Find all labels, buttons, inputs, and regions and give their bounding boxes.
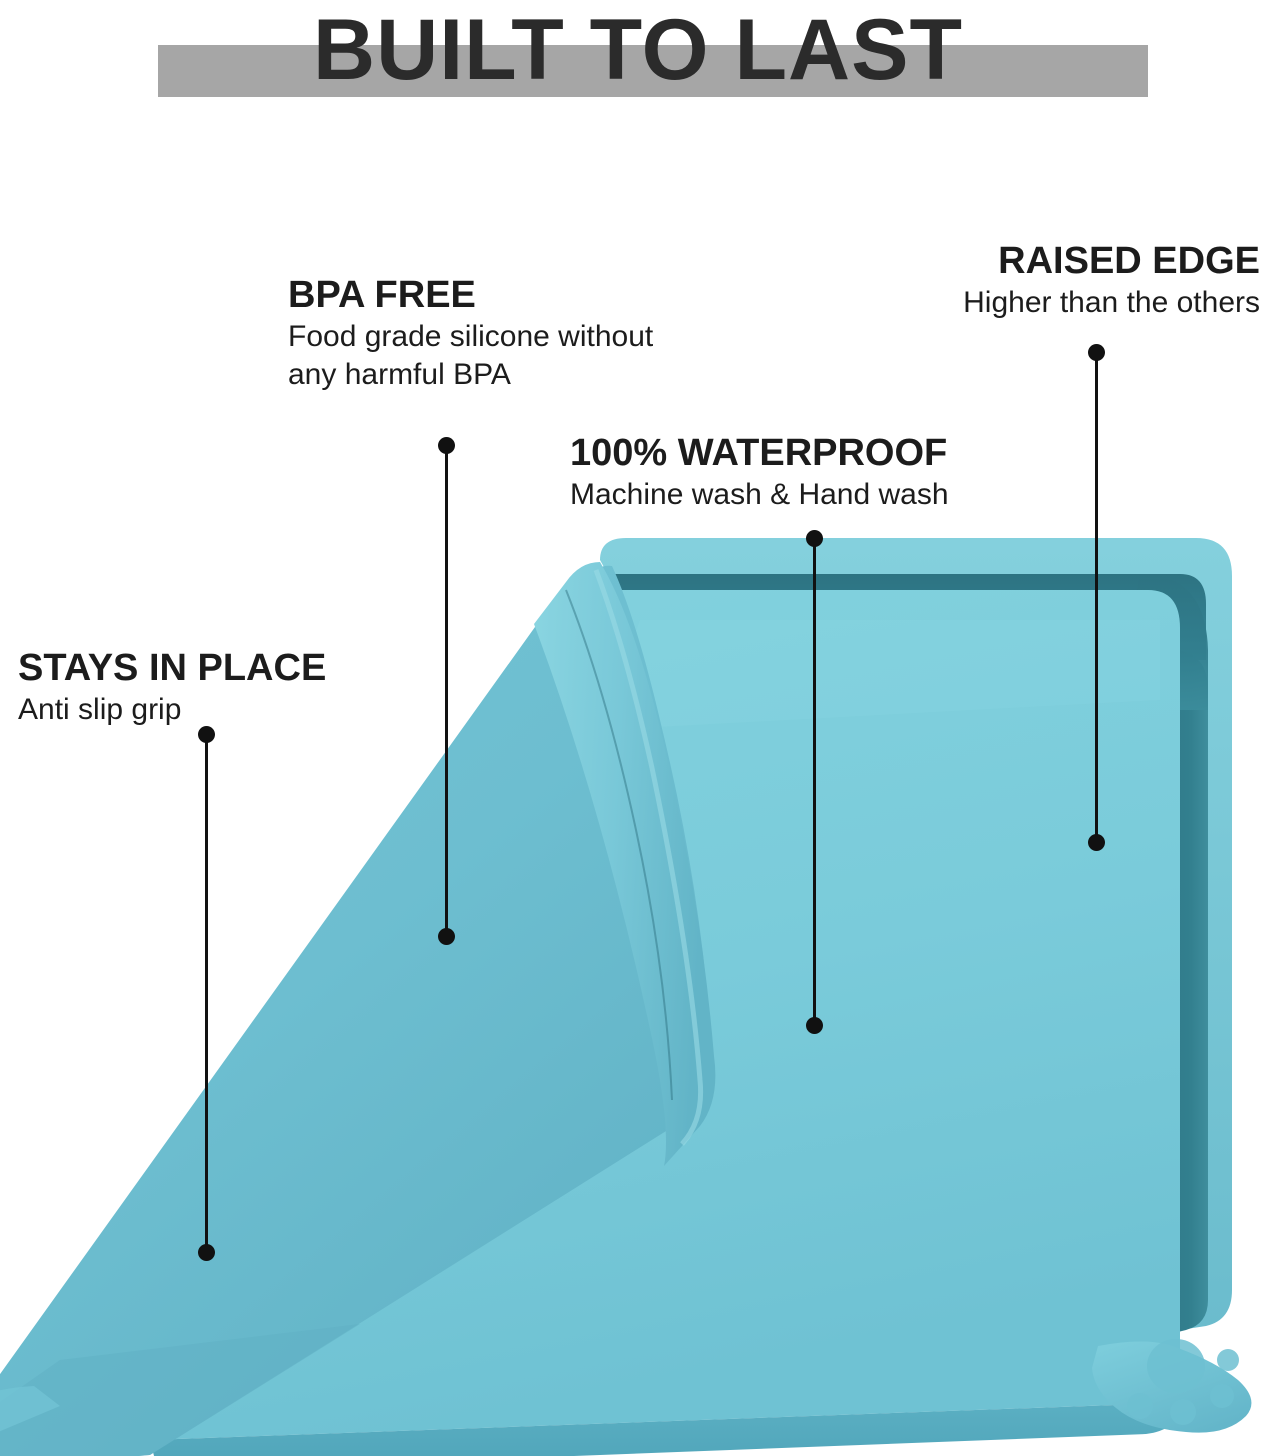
page-title: BUILT TO LAST: [0, 0, 1276, 100]
leader-dot-bpa-end: [438, 928, 455, 945]
leader-dot-stays-end: [198, 1244, 215, 1261]
leader-line-stays-in-place: [205, 741, 208, 1253]
leader-dot-raised-top: [1088, 344, 1105, 361]
leader-dot-waterproof-end: [806, 1017, 823, 1034]
callout-waterproof: 100% WATERPROOF Machine wash & Hand wash: [570, 430, 949, 514]
leader-dot-bpa-top: [438, 437, 455, 454]
callout-waterproof-heading: 100% WATERPROOF: [570, 430, 949, 476]
callout-stays-in-place-subtext-line1: Anti slip grip: [18, 691, 326, 729]
callout-raised-edge: RAISED EDGE Higher than the others: [948, 238, 1260, 322]
infographic-page: BUILT TO LAST: [0, 0, 1276, 1456]
callout-bpa-free-subtext-line1: Food grade silicone without: [288, 318, 653, 356]
callout-stays-in-place-heading: STAYS IN PLACE: [18, 645, 326, 691]
leader-line-bpa-free: [445, 452, 448, 937]
leader-line-waterproof: [813, 545, 816, 1025]
callout-bpa-free-heading: BPA FREE: [288, 272, 653, 318]
callout-stays-in-place: STAYS IN PLACE Anti slip grip: [18, 645, 326, 729]
callout-raised-edge-heading: RAISED EDGE: [948, 238, 1260, 284]
callout-bpa-free-subtext-line2: any harmful BPA: [288, 356, 653, 394]
leader-dot-waterproof-top: [806, 530, 823, 547]
callout-waterproof-subtext-line1: Machine wash & Hand wash: [570, 476, 949, 514]
product-illustration: [0, 500, 1276, 1456]
callout-raised-edge-subtext-line1: Higher than the others: [948, 284, 1260, 322]
leader-dot-raised-end: [1088, 834, 1105, 851]
leader-line-raised-edge: [1095, 359, 1098, 843]
callout-bpa-free: BPA FREE Food grade silicone without any…: [288, 272, 653, 394]
